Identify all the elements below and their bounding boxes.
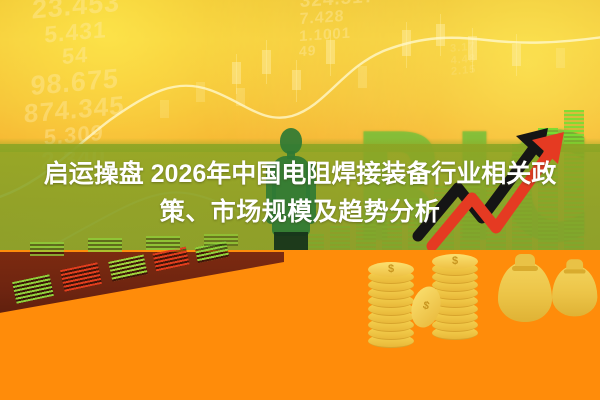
dollar-sign-icon: $: [368, 263, 414, 275]
title-line-2: 策、市场规模及趋势分析: [0, 193, 600, 231]
page-title: 启运操盘 2026年中国电阻焊接装备行业相关政 策、市场规模及趋势分析: [0, 155, 600, 231]
cover-image: 23.453 5.431 54 98.675 874.345 5.309 2.3…: [0, 0, 600, 400]
money-bag-1: $: [498, 262, 552, 285]
title-line-1: 启运操盘 2026年中国电阻焊接装备行业相关政: [0, 155, 600, 193]
money-bag-2: $: [552, 266, 597, 285]
dollar-sign-icon: $: [432, 255, 478, 267]
